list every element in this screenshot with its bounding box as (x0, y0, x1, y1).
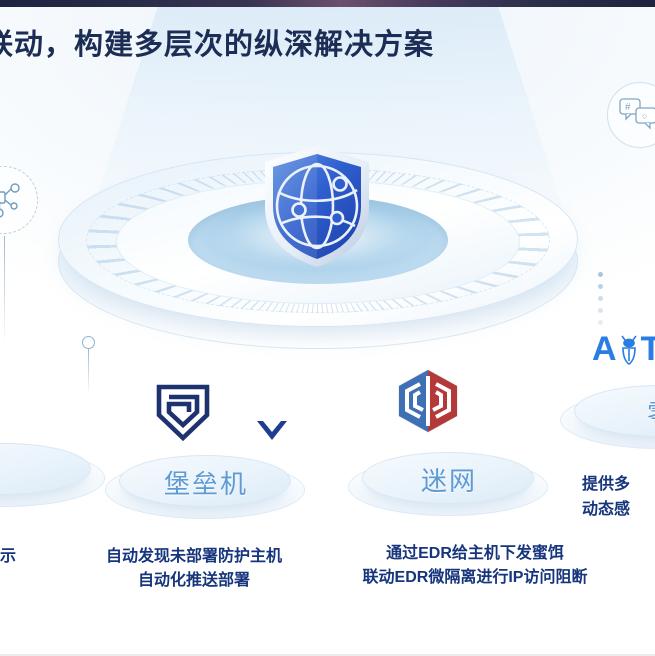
map-pin-stem (88, 349, 89, 395)
module-deception[interactable]: 迷网 (348, 452, 548, 518)
plate-inner-ring (0, 443, 91, 495)
attck-text-after: T (641, 330, 655, 369)
module-plate (0, 443, 105, 509)
chevron-down-icon (255, 418, 289, 444)
caption-line: 动态感 (582, 497, 655, 522)
bottom-fade (0, 586, 655, 656)
module-left-partial[interactable] (0, 443, 105, 509)
module-label: 迷网 (363, 455, 535, 503)
module-label (0, 446, 92, 494)
svg-text:#: # (625, 102, 631, 113)
network-node-icon (0, 178, 26, 224)
plate-inner-ring: 堡垒机 (119, 455, 291, 507)
caption-line: 提供多 (582, 472, 655, 497)
attck-wordmark: A T (592, 330, 655, 369)
module-caption-deception: 通过EDR给主机下发蜜饵 联动EDR微隔离进行IP访问阻断 (285, 542, 655, 590)
module-label: 零 (575, 388, 655, 436)
chat-bubble-hash-icon: # ○ (618, 95, 655, 137)
page-title: 联动，构建多层次的纵深解决方案 (0, 24, 544, 66)
module-plate: 零 (560, 385, 655, 451)
decor-pin-stem-left (4, 236, 5, 346)
plate-inner-ring: 零 (574, 385, 655, 437)
module-bastion[interactable]: 堡垒机 (105, 455, 305, 521)
module-caption-zero-trust: 提供多 动态感 (582, 472, 655, 522)
top-accent-strip (0, 0, 655, 7)
bug-icon (618, 335, 640, 365)
module-zero-trust[interactable]: 零 (560, 385, 655, 451)
bastion-shield-icon (152, 381, 214, 443)
module-plate: 迷网 (348, 452, 548, 518)
caption-line: 通过EDR给主机下发蜜饵 (285, 542, 655, 566)
map-pin-dot (82, 336, 95, 349)
deception-cube-icon (393, 366, 463, 436)
svg-text:○: ○ (642, 111, 647, 121)
decor-dot-column (598, 272, 603, 332)
attck-text-before: A (592, 330, 617, 369)
module-plate: 堡垒机 (105, 455, 305, 521)
shield-network-icon (258, 140, 376, 268)
module-label: 堡垒机 (120, 458, 292, 506)
plate-inner-ring: 迷网 (362, 452, 534, 504)
